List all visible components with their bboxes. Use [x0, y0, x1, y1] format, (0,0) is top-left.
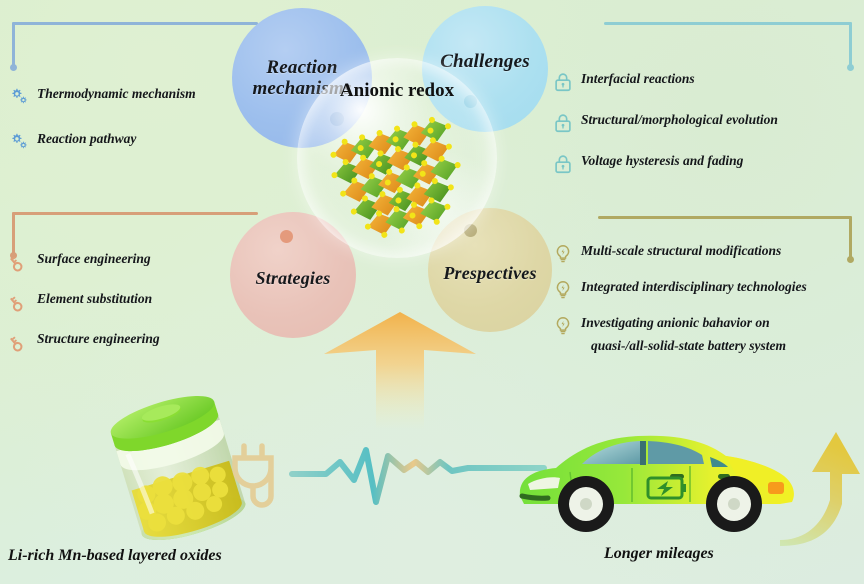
- list-item: Interfacial reactions: [552, 70, 862, 93]
- list-item: Structure engineering: [8, 330, 238, 353]
- circle-label-strategies: Strategies: [255, 268, 330, 288]
- list-item-label: Structure engineering: [37, 330, 160, 347]
- gears-icon: [8, 131, 30, 153]
- list-item-label: Element substitution: [37, 290, 152, 307]
- bracket-reaction-mechanisms: [12, 22, 258, 72]
- key-icon: [8, 331, 30, 353]
- list-item: Voltage hysteresis and fading: [552, 152, 862, 175]
- gears-icon: [8, 86, 30, 108]
- figure-canvas: Reaction mechanisms Challenges Strategie…: [0, 0, 864, 584]
- lock-icon: [552, 153, 574, 175]
- list-item: Structural/morphological evolution: [552, 111, 862, 134]
- list-challenges: Interfacial reactions Structural/morphol…: [552, 70, 862, 186]
- electric-car-icon: [512, 412, 812, 542]
- circle-label-prespectives: Prespectives: [443, 263, 536, 283]
- bracket-challenges: [604, 22, 852, 72]
- bubble-title: Anionic redox: [297, 80, 497, 102]
- list-item-label: Multi-scale structural modifications: [581, 242, 781, 259]
- list-item-label-continuation: quasi-/all-solid-state battery system: [591, 337, 786, 354]
- list-item-label: Surface engineering: [37, 250, 151, 267]
- caption-left: Li-rich Mn-based layered oxides: [8, 547, 222, 565]
- lightbulb-icon: [552, 279, 574, 301]
- list-item-label: Integrated interdisciplinary technologie…: [581, 278, 807, 295]
- list-reaction-mechanisms: Thermodynamic mechanism Reaction pathway: [8, 85, 248, 164]
- list-item: Surface engineering: [8, 250, 238, 273]
- power-plug-icon: [228, 440, 290, 512]
- voltage-waveform-icon: [292, 440, 544, 512]
- central-bubble: Anionic redox: [297, 58, 497, 258]
- circle-dot-strategies: [280, 230, 293, 243]
- lock-icon: [552, 112, 574, 134]
- list-item: Thermodynamic mechanism: [8, 85, 248, 108]
- list-item: Investigating anionic bahavior on quasi-…: [552, 314, 864, 355]
- key-icon: [8, 251, 30, 273]
- list-item: Integrated interdisciplinary technologie…: [552, 278, 864, 301]
- list-item: Element substitution: [8, 290, 238, 313]
- list-item-label: Investigating anionic bahavior on: [581, 314, 786, 331]
- upward-arrow-icon: [320, 310, 480, 430]
- lightbulb-icon: [552, 243, 574, 265]
- list-item-label: Thermodynamic mechanism: [37, 85, 196, 102]
- list-item-label: Interfacial reactions: [581, 70, 695, 87]
- circle-label-challenges: Challenges: [440, 51, 530, 72]
- lightbulb-icon: [552, 315, 574, 337]
- key-icon: [8, 291, 30, 313]
- list-item-label: Voltage hysteresis and fading: [581, 152, 743, 169]
- list-prespectives: Multi-scale structural modifications Int…: [552, 242, 864, 366]
- crystal-structure-icon: [330, 112, 464, 236]
- list-strategies: Surface engineering Element substitution: [8, 250, 238, 364]
- list-item: Multi-scale structural modifications: [552, 242, 864, 265]
- caption-right: Longer mileages: [604, 545, 714, 563]
- list-item: Reaction pathway: [8, 130, 248, 153]
- list-item-label: Reaction pathway: [37, 130, 136, 147]
- list-item-label: Structural/morphological evolution: [581, 111, 778, 128]
- lock-icon: [552, 71, 574, 93]
